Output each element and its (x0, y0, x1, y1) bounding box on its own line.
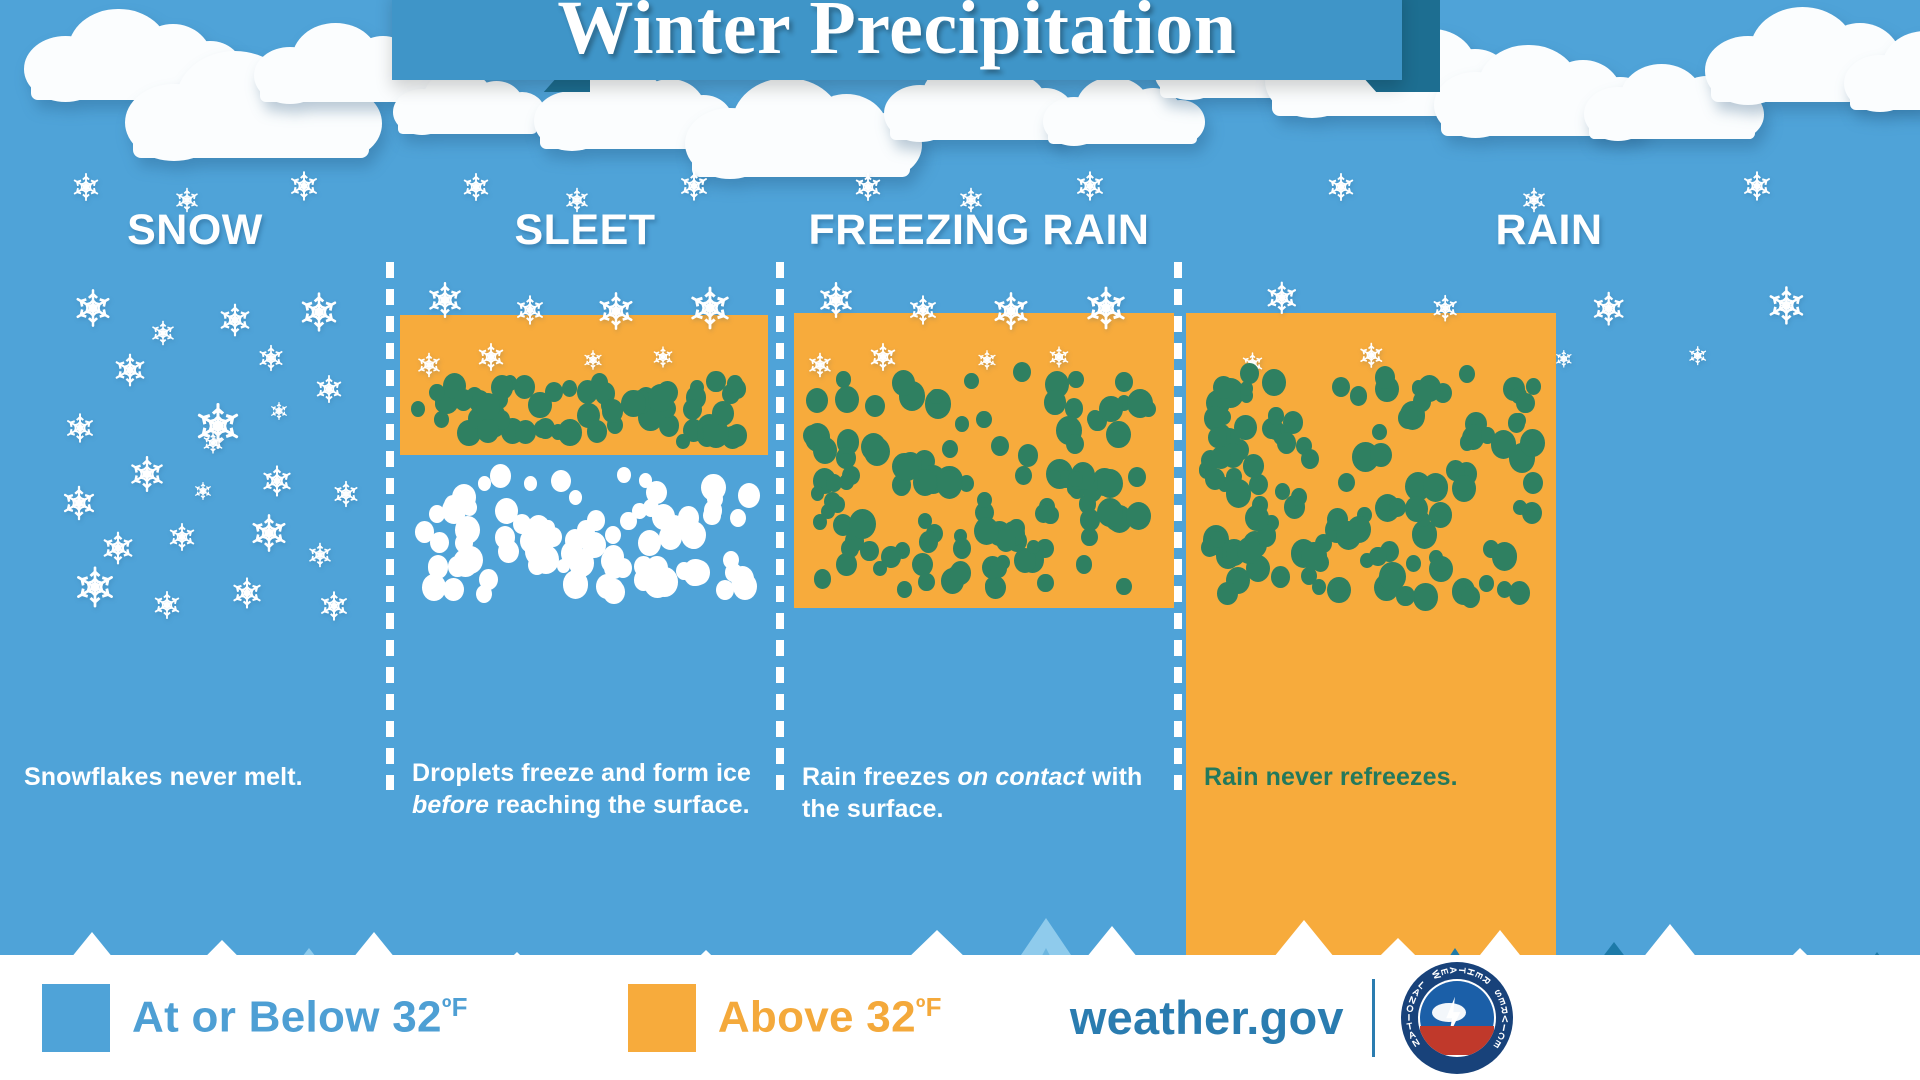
snowflake-icon (1072, 168, 1108, 204)
melting-droplet (558, 419, 582, 445)
ice-pellet (444, 495, 463, 516)
legend-swatch-warm (628, 984, 696, 1052)
snowflake-icon (258, 462, 296, 500)
melting-droplet (434, 411, 449, 428)
rain-droplet (1413, 583, 1438, 611)
rain-droplet (1205, 468, 1225, 490)
rain-droplet (1240, 381, 1253, 396)
snowflake-icon (110, 350, 150, 390)
rain-droplet (1234, 415, 1257, 441)
ice-pellet (617, 467, 631, 483)
seal-cloud-icon (1432, 1003, 1466, 1022)
rain-droplet (1015, 466, 1032, 485)
rain-droplet (1429, 556, 1452, 582)
rain-droplet (918, 513, 932, 529)
rain-droplet (1126, 502, 1151, 530)
snowflake-icon (650, 344, 676, 370)
caption-freezing-rain: Rain freezes on contact with the surface… (802, 762, 1156, 825)
ice-pellet (541, 520, 554, 535)
ice-pellet (430, 532, 449, 553)
rain-droplet (835, 386, 859, 413)
ice-pellet (524, 476, 537, 491)
rain-droplet (990, 558, 1008, 578)
ice-pellet (563, 570, 589, 599)
rain-droplet (897, 581, 912, 597)
ice-pellet (716, 580, 734, 600)
rain-droplet (1277, 432, 1296, 454)
column-freezing-rain: FREEZING RAINRain freezes on contact wit… (780, 0, 1178, 955)
snowflake-icon (192, 480, 214, 502)
rain-droplet (806, 388, 828, 413)
legend-unit-warm: ºF (916, 992, 942, 1022)
rain-droplet (1423, 473, 1448, 501)
snowflake-icon (975, 348, 999, 372)
rain-droplet (1418, 375, 1441, 401)
ice-pellet (638, 530, 661, 556)
ice-pellet (701, 474, 725, 501)
rain-droplet (896, 455, 919, 481)
snowflake-icon (866, 340, 900, 374)
snowflake-icon (70, 285, 116, 331)
column-rain: RAINRain never refreezes. (1178, 0, 1920, 955)
rain-droplet (1035, 504, 1052, 523)
rain-droplet (1372, 424, 1387, 440)
rain-droplet (1076, 555, 1093, 574)
rain-droplet (1106, 421, 1130, 448)
rain-droplet (1068, 471, 1083, 487)
rain-droplet (892, 370, 915, 396)
seal-inner-disc (1418, 979, 1496, 1057)
snowflake-icon (474, 340, 508, 374)
rain-droplet (830, 496, 845, 513)
ice-pellet (569, 490, 583, 505)
snowflake-icon (295, 288, 343, 336)
snowflake-icon (330, 478, 362, 510)
rain-droplet (1491, 430, 1517, 459)
rain-droplet (919, 531, 938, 552)
rain-droplet (1479, 575, 1494, 591)
rain-droplet (1115, 372, 1133, 392)
rain-droplet (1483, 540, 1499, 558)
snowflake-icon (851, 170, 885, 204)
snowflake-icon (459, 170, 493, 204)
legend-unit-cold: ºF (442, 992, 468, 1022)
ice-pellet (490, 464, 511, 488)
ice-pellet (455, 516, 480, 544)
ice-pellet (478, 476, 491, 491)
snowflake-icon (676, 168, 712, 204)
rain-droplet (1406, 555, 1421, 572)
ice-pellet (607, 579, 623, 597)
seal-char: L (1415, 979, 1427, 991)
ice-pellet (429, 505, 445, 523)
legend-item-cold: At or Below 32ºF (42, 984, 468, 1052)
rain-droplet (1429, 502, 1452, 528)
snowflake-icon (423, 278, 467, 322)
infographic-canvas: Winter Precipitation SNOWSnowflakes neve… (0, 0, 1920, 1080)
snowflake-icon (512, 292, 548, 328)
melting-droplet (683, 399, 702, 420)
rain-droplet (1405, 496, 1428, 522)
rain-droplet (881, 546, 900, 568)
snowflake-icon (581, 348, 605, 372)
rain-droplet (1513, 500, 1527, 516)
ice-pellet (703, 506, 720, 525)
rain-droplet (1217, 582, 1237, 605)
rain-droplet (1128, 467, 1146, 487)
rain-droplet (1283, 411, 1303, 434)
ice-pellet (453, 549, 478, 576)
legend-text-warm: Above 32 (718, 993, 916, 1042)
snowflake-icon (150, 588, 184, 622)
rain-droplet (1291, 488, 1307, 506)
seal-char: R (1479, 973, 1492, 985)
rain-droplet (814, 569, 831, 588)
snowflake-icon (1763, 282, 1810, 329)
ice-pellet (733, 573, 758, 601)
legend-label-cold: At or Below 32ºF (132, 992, 468, 1043)
melting-droplet (515, 420, 536, 444)
snowflake-icon (414, 350, 444, 380)
ice-pellet (730, 509, 746, 527)
rain-droplet (1523, 472, 1543, 494)
snowflake-icon (316, 588, 352, 624)
rain-droplet (839, 453, 853, 469)
rain-droplet (1097, 498, 1123, 528)
ice-pellet (688, 560, 711, 585)
rain-droplet (1044, 390, 1066, 414)
snowflake-icon (268, 400, 290, 422)
legend-swatch-cold (42, 984, 110, 1052)
rain-droplet (1127, 389, 1153, 418)
snowflake-icon (255, 342, 287, 374)
snowflake-icon (1046, 344, 1072, 370)
snowflake-icon (905, 292, 941, 328)
title-banner: Winter Precipitation (0, 0, 1920, 98)
melting-droplet (727, 424, 747, 447)
rain-droplet (1116, 578, 1132, 596)
rain-droplet (1396, 586, 1414, 606)
snowflake-icon (988, 288, 1034, 334)
rain-droplet (1013, 362, 1031, 382)
snowflake-icon (562, 185, 592, 215)
column-snow: SNOWSnowflakes never melt. (0, 0, 390, 955)
snowflake-icon (70, 562, 120, 612)
ice-pellet (582, 532, 605, 558)
rain-droplet (1389, 498, 1406, 517)
rain-droplet (1226, 479, 1251, 507)
rain-droplet (1526, 378, 1541, 395)
ice-pellet (678, 506, 699, 530)
snowflake-icon (125, 452, 169, 496)
rain-droplet (1369, 547, 1386, 566)
rain-droplet (1243, 454, 1264, 477)
snowflake-icon (200, 430, 226, 456)
snowflake-icon (312, 372, 346, 406)
ice-pellet (443, 578, 464, 601)
rain-droplet (1508, 413, 1526, 433)
rain-droplet (1520, 429, 1545, 457)
snowflake-icon (1588, 288, 1629, 329)
rain-droplet (1301, 542, 1326, 570)
snowflake-icon (814, 278, 858, 322)
rain-droplet (1268, 407, 1283, 424)
snowflake-icon (305, 540, 335, 570)
rain-droplet (1271, 566, 1290, 588)
rain-droplet (1237, 537, 1261, 564)
rain-droplet (1350, 386, 1367, 406)
melting-droplet (727, 375, 743, 393)
snowflake-icon (1739, 168, 1775, 204)
snowflake-icon (69, 170, 103, 204)
ice-pellet (479, 569, 498, 590)
snowflake-icon (1080, 282, 1132, 334)
rain-droplet (929, 389, 943, 405)
snowflake-icon (1324, 170, 1358, 204)
ice-pellet (605, 526, 622, 545)
weather-gov-link[interactable]: weather.gov (1070, 990, 1344, 1045)
rain-droplet (937, 470, 963, 499)
ice-pellet (646, 481, 667, 504)
snowflake-icon (1429, 292, 1461, 324)
rain-droplet (1398, 407, 1418, 429)
warm-layer-rain (1186, 313, 1556, 955)
rain-droplet (942, 440, 958, 458)
melting-droplet (587, 420, 607, 443)
melting-droplet (562, 380, 577, 397)
snowflake-icon (62, 410, 98, 446)
ice-pellet (551, 470, 571, 493)
snowflake-icon (684, 282, 736, 334)
snowflake-icon (1686, 344, 1709, 367)
ice-pellet (428, 555, 449, 578)
rain-droplet (1080, 509, 1100, 531)
snowflake-icon (165, 520, 199, 554)
rain-droplet (841, 539, 859, 559)
ice-pellet (498, 540, 519, 563)
snowflake-icon (215, 300, 255, 340)
seal-red-band (1420, 1026, 1494, 1054)
rain-droplet (1452, 475, 1476, 502)
seal-core (1420, 981, 1494, 1055)
snowflake-icon (286, 168, 322, 204)
snowflake-icon (172, 185, 202, 215)
snowflake-icon (1553, 348, 1575, 370)
snowflake-icon (148, 318, 178, 348)
rain-droplet (977, 492, 992, 509)
snowflake-icon (805, 350, 835, 380)
rain-droplet (1211, 446, 1231, 469)
nws-seal-logo: NATIONAL WEATHER SERVICE (1401, 962, 1513, 1074)
rain-droplet (1018, 444, 1039, 467)
snowflake-icon (246, 510, 292, 556)
footer-divider (1372, 979, 1375, 1057)
rain-droplet (1099, 396, 1123, 422)
caption-rain: Rain never refreezes. (1204, 762, 1902, 794)
rain-droplet (1262, 369, 1286, 396)
rain-droplet (955, 416, 969, 432)
rain-droplet (918, 573, 935, 592)
snowflake-icon (1262, 278, 1302, 318)
rain-droplet (1516, 393, 1534, 413)
melting-droplet (602, 399, 623, 422)
rain-droplet (1037, 574, 1054, 593)
rain-droplet (976, 411, 991, 428)
column-sleet: SLEETDroplets freeze and form ice before… (390, 0, 780, 955)
legend-item-warm: Above 32ºF (628, 984, 942, 1052)
melting-droplet (411, 401, 425, 417)
footer-legend-bar: At or Below 32ºF Above 32ºF weather.gov … (0, 955, 1920, 1080)
snowflake-icon (1519, 185, 1549, 215)
rain-droplet (1332, 377, 1350, 397)
caption-snow: Snowflakes never melt. (24, 762, 370, 794)
ice-pellet (513, 514, 531, 534)
rain-droplet (953, 538, 972, 559)
melting-droplet (712, 401, 735, 426)
rain-droplet (974, 517, 999, 545)
melting-droplet (621, 390, 646, 418)
snowflake-icon (956, 185, 986, 215)
rain-droplet (865, 395, 885, 418)
page-title: Winter Precipitation (392, 0, 1402, 82)
caption-sleet: Droplets freeze and form ice before reac… (412, 758, 758, 821)
ice-pellet (738, 483, 761, 508)
snowflake-icon (58, 482, 100, 524)
snowflake-icon (228, 574, 266, 612)
legend-label-warm: Above 32ºF (718, 992, 942, 1043)
snowflake-icon (593, 288, 639, 334)
ice-pellet (652, 504, 675, 530)
legend-text-cold: At or Below 32 (132, 993, 442, 1042)
